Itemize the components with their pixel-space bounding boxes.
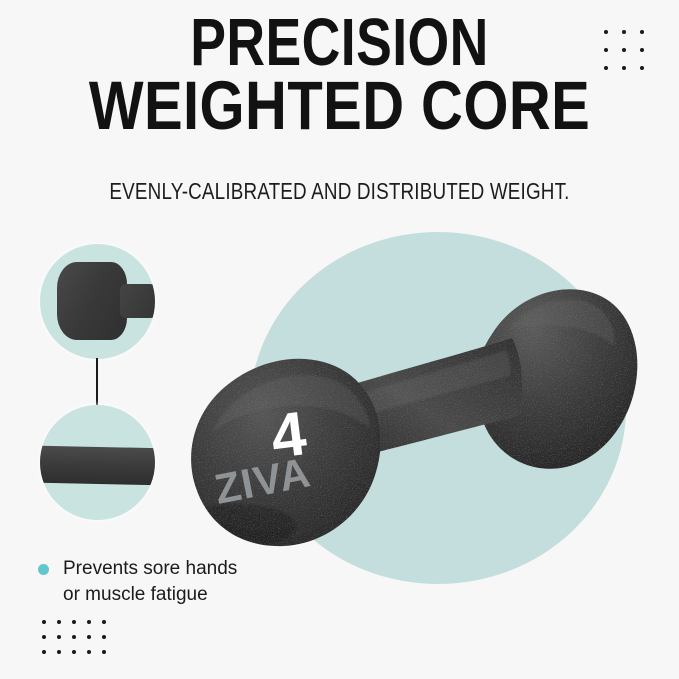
headline-block: PRECISION WEIGHTED CORE	[0, 12, 679, 138]
headline-line-2: WEIGHTED CORE	[54, 74, 624, 138]
dot-icon	[42, 650, 46, 654]
dot-icon	[102, 620, 106, 624]
dot-icon	[57, 635, 61, 639]
dot-icon	[87, 650, 91, 654]
dot-icon	[57, 650, 61, 654]
dot-icon	[640, 48, 644, 52]
bullet-dot-icon	[38, 564, 49, 575]
dot-icon	[604, 66, 608, 70]
dot-icon	[604, 30, 608, 34]
dot-icon	[622, 66, 626, 70]
dot-icon	[102, 650, 106, 654]
product-feature-infographic: PRECISION WEIGHTED CORE EVENLY-CALIBRATE…	[0, 0, 679, 679]
detail-inset-handle	[40, 405, 155, 520]
dumbbell-neck-detail	[120, 284, 155, 318]
dot-icon	[622, 30, 626, 34]
inset-connector-line	[96, 358, 98, 405]
dot-icon	[640, 66, 644, 70]
dot-icon	[640, 30, 644, 34]
dot-icon	[87, 635, 91, 639]
dot-grid-bottom-left	[42, 620, 117, 665]
dot-icon	[604, 48, 608, 52]
dot-icon	[622, 48, 626, 52]
feature-bullet: Prevents sore hands or muscle fatigue	[38, 556, 288, 607]
subheadline: EVENLY-CALIBRATED AND DISTRIBUTED WEIGHT…	[61, 178, 618, 205]
feature-bullet-label: Prevents sore hands or muscle fatigue	[63, 556, 237, 607]
dot-grid-top-right	[604, 30, 658, 84]
dot-icon	[72, 650, 76, 654]
dot-icon	[57, 620, 61, 624]
headline-line-1: PRECISION	[68, 12, 611, 74]
dot-icon	[42, 620, 46, 624]
dumbbell-handle-detail	[40, 446, 155, 486]
dot-icon	[102, 635, 106, 639]
detail-inset-head	[40, 244, 155, 359]
dumbbell-head-detail	[57, 262, 127, 340]
dot-icon	[72, 620, 76, 624]
dot-icon	[72, 635, 76, 639]
dumbbell-near-head: 4 ZIVA	[180, 359, 381, 548]
dot-icon	[42, 635, 46, 639]
dot-icon	[87, 620, 91, 624]
